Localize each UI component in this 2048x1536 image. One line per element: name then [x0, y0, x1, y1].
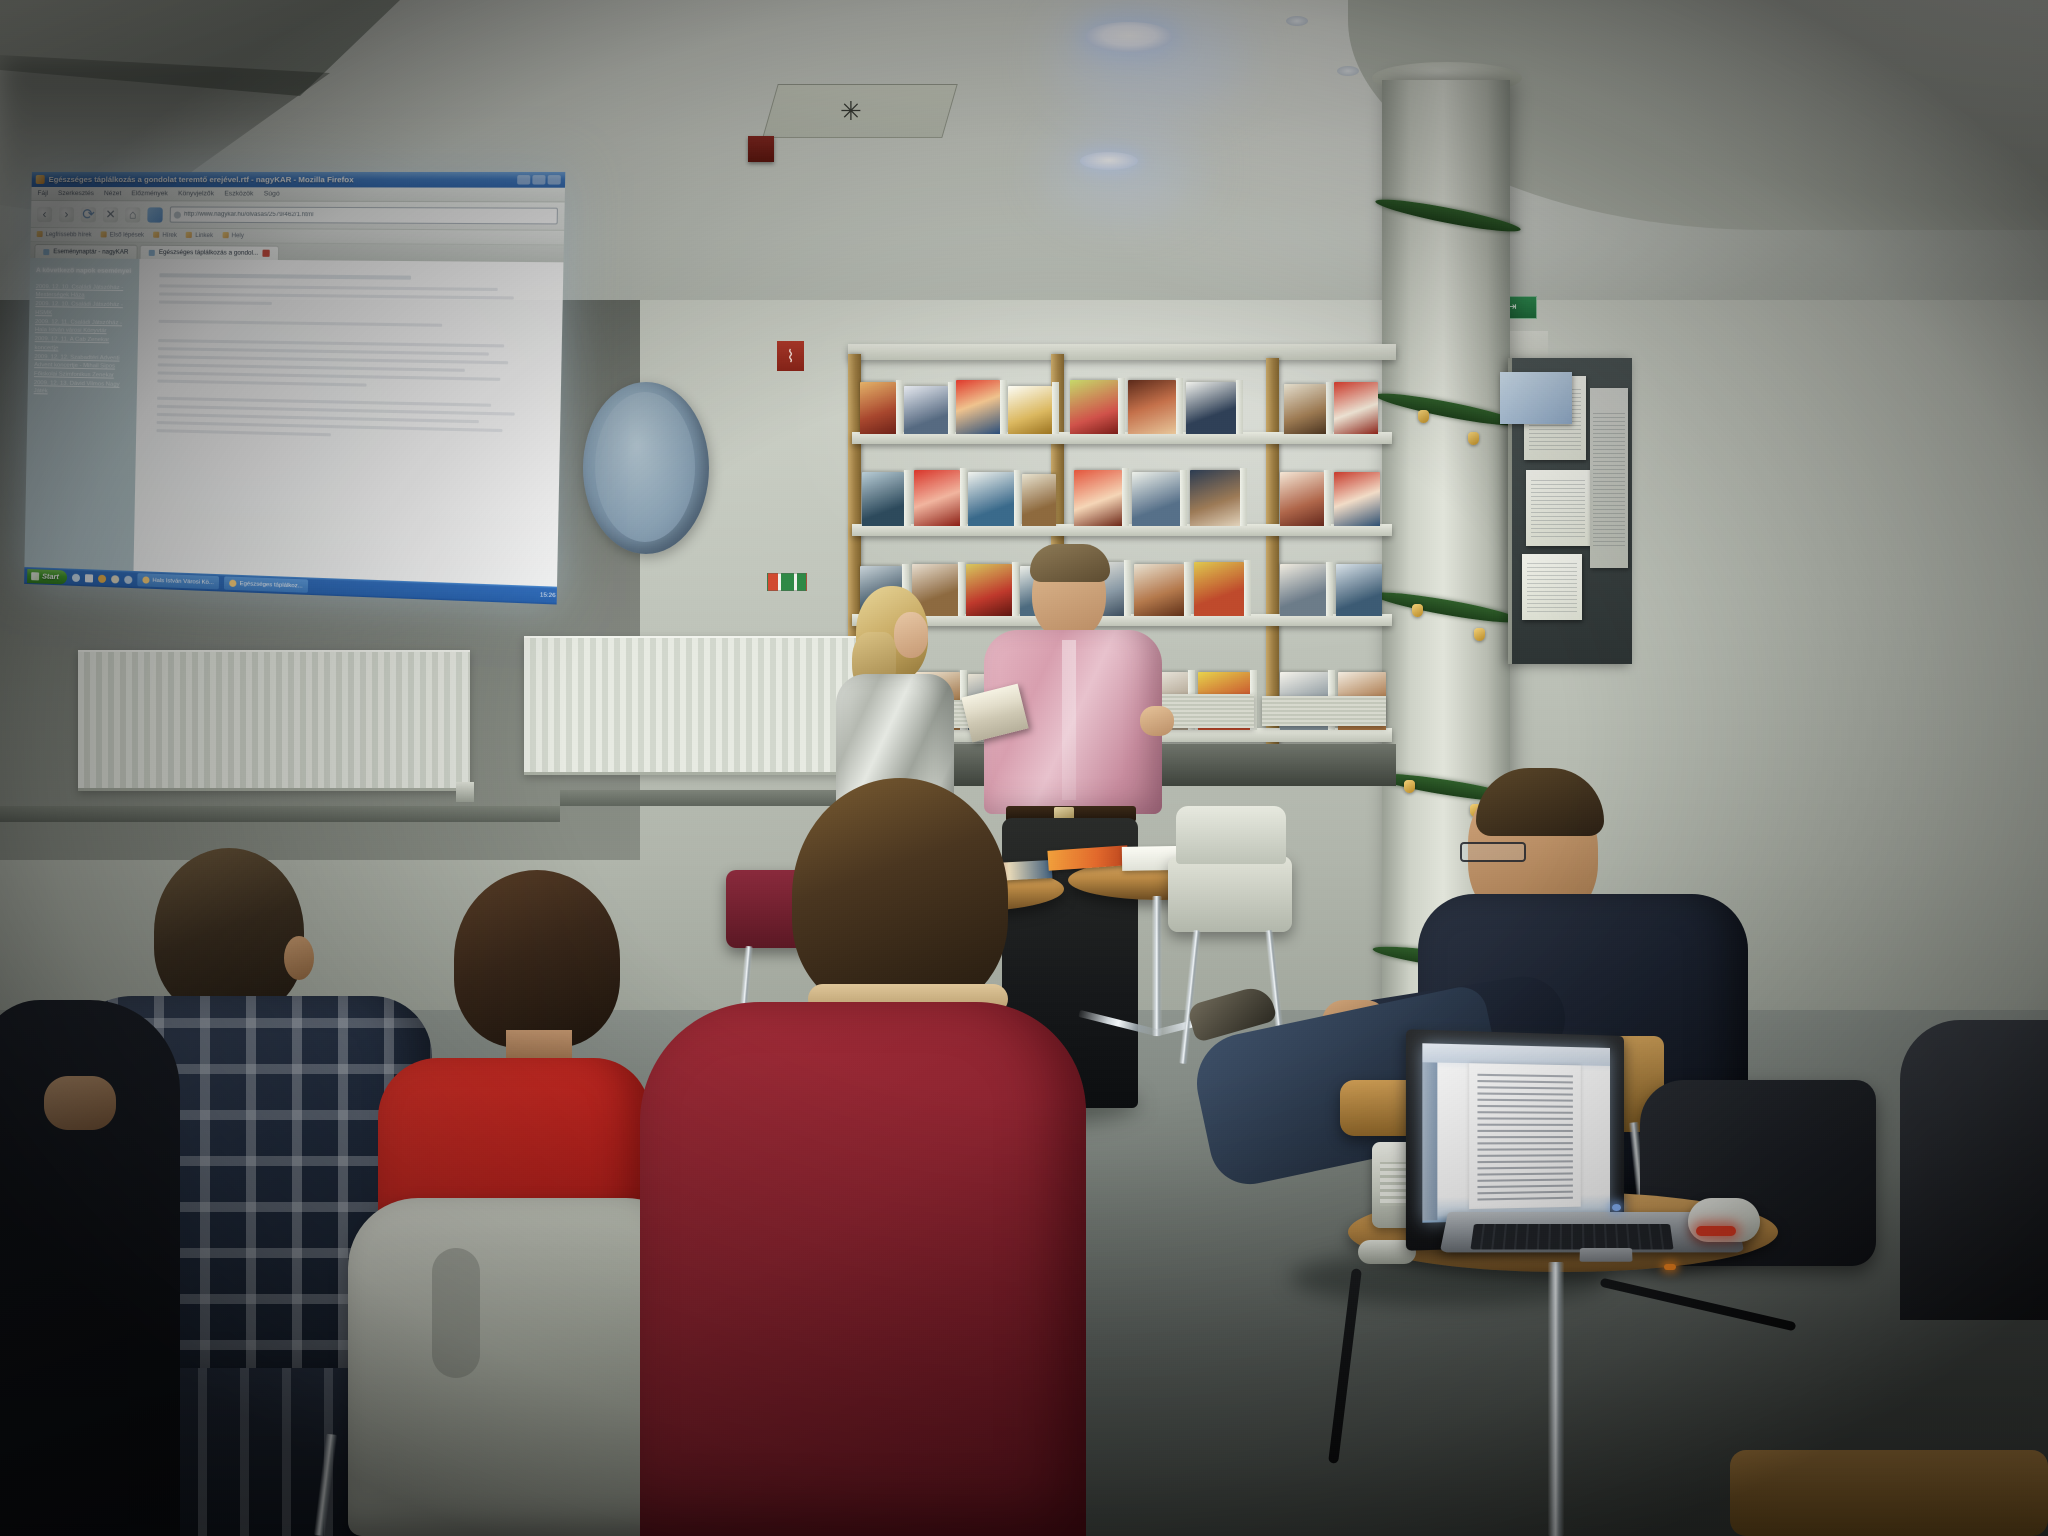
laptop-power-led — [1612, 1204, 1621, 1211]
taskbar-window-label: Egészséges táplálkoz... — [240, 581, 303, 590]
magazine-cover — [1022, 474, 1056, 526]
audience-foreground-hand — [44, 1076, 116, 1130]
magazine-cover — [1008, 386, 1052, 434]
presenter-man-shirt-placket — [1062, 640, 1076, 800]
menu-item-help[interactable]: Súgó — [264, 190, 280, 197]
tab-label: Eseménynaptár - nagyKAR — [53, 248, 128, 256]
chair-far-right[interactable] — [1730, 1450, 2048, 1536]
tab-favicon — [149, 249, 155, 255]
laptop-screen[interactable] — [1422, 1043, 1610, 1222]
document-line — [158, 371, 500, 380]
rack-divider — [1326, 382, 1333, 434]
document-line — [159, 301, 272, 305]
close-button[interactable] — [548, 175, 561, 184]
event-item: 2009. 12. 11. Családi Játszóház - Hala I… — [35, 318, 133, 336]
magazine-cover — [1132, 472, 1180, 526]
rack-bay — [856, 376, 1392, 434]
mouse-led — [1696, 1226, 1736, 1236]
newspaper-stack — [1262, 696, 1386, 726]
taskbar-window-label: Hals István Városi Kö... — [152, 577, 214, 585]
rack-divider — [1000, 380, 1007, 434]
bookmark-links[interactable]: Linkek — [186, 232, 213, 239]
magazine-cover — [1334, 472, 1380, 526]
bookmark-icon[interactable] — [147, 207, 163, 222]
menu-item-edit[interactable]: Szerkesztés — [58, 190, 94, 197]
document-heading-line — [159, 273, 411, 280]
magazine-cover — [914, 470, 960, 526]
tab-eseménynaptár[interactable]: Eseménynaptár - nagyKAR — [34, 244, 137, 259]
magazine-cover — [1284, 384, 1326, 434]
firefox-window[interactable]: Egészséges táplálkozás a gondolat teremt… — [24, 172, 565, 605]
magazine-cover — [1334, 382, 1378, 434]
rack-bay — [856, 466, 1392, 526]
rack-divider — [1052, 382, 1059, 434]
audience-maroon-sweater — [640, 1002, 1086, 1536]
notice-board-upper-poster — [1500, 372, 1572, 424]
laptop-scrollbar[interactable] — [1422, 1062, 1437, 1220]
magazine-cover — [1190, 470, 1240, 526]
document-line — [156, 429, 330, 436]
audience-red-woman-hair — [454, 870, 620, 1048]
document-line — [159, 284, 497, 291]
magazine-cover — [968, 472, 1014, 526]
wall-relief-disc-inner — [595, 392, 695, 542]
rack-divider — [948, 382, 955, 434]
document-line — [157, 379, 366, 386]
word-icon[interactable] — [85, 574, 93, 582]
rack-divider — [904, 470, 911, 526]
notice-sheet — [1526, 470, 1590, 546]
reload-icon[interactable]: ⟳ — [81, 207, 96, 222]
taskbar-window-hals[interactable]: Hals István Városi Kö... — [137, 573, 219, 589]
rack-divider — [1240, 468, 1247, 526]
window-icon — [142, 576, 149, 583]
downlight-2 — [1080, 152, 1138, 170]
audience-plaid-man-hair — [154, 848, 304, 1016]
document-line — [159, 320, 442, 327]
laptop-status-led — [1664, 1264, 1676, 1270]
presenter-man-hand — [1140, 706, 1174, 736]
magazine-cover — [1194, 562, 1244, 616]
site-identity-icon — [174, 211, 181, 218]
laptop-document-text — [1477, 1072, 1572, 1201]
event-item: 2009. 12. 11. A Cab Zenekar koncertje — [34, 336, 132, 354]
notice-sheet — [1522, 554, 1582, 620]
magazine-cover — [1280, 472, 1324, 526]
rack-divider — [1014, 470, 1021, 526]
window-title: Egészséges táplálkozás a gondolat teremt… — [49, 175, 354, 184]
presenter-man-hair — [1030, 544, 1110, 582]
rack-divider — [896, 380, 903, 434]
document-line — [159, 292, 513, 299]
fire-extinguisher-sign-icon: ⌇ — [777, 341, 804, 371]
media-icon[interactable] — [124, 575, 132, 583]
tab-egeszseges-taplalkozas[interactable]: Egészséges táplálkozás a gondol... — [139, 245, 279, 260]
downlight-1 — [1085, 22, 1173, 52]
minimize-button[interactable] — [517, 175, 530, 184]
laptop-keyboard[interactable] — [1470, 1224, 1673, 1250]
rack-divider — [1236, 380, 1243, 434]
gold-bell-ornament — [1468, 432, 1479, 445]
start-button[interactable]: Start — [27, 569, 67, 585]
taskbar-window-egeszseges[interactable]: Egészséges táplálkoz... — [224, 576, 308, 592]
bookmark-place[interactable]: Hely — [222, 232, 244, 239]
downlight-3 — [1286, 16, 1308, 26]
magazine-cover — [1280, 564, 1326, 616]
library-presentation-scene: ✳ ⌇ ⇥ Egészséges táplálkozás a gondolat … — [0, 0, 2048, 1536]
maximize-button[interactable] — [532, 175, 545, 184]
audience-plaid-man-ear — [284, 936, 314, 980]
menu-item-view[interactable]: Nézet — [104, 190, 121, 197]
document-line — [158, 339, 504, 348]
magazine-cover — [956, 380, 1000, 434]
home-icon[interactable]: ⌂ — [125, 207, 140, 222]
downlight-glow-1 — [1056, 0, 1246, 110]
url-text: http://www.nagykar.hu/olvasas/2579/462/1… — [184, 212, 314, 219]
rack-divider — [960, 468, 967, 526]
document-line — [158, 347, 488, 356]
air-diffuser-vanes: ✳ — [840, 98, 884, 124]
firefox-icon[interactable] — [98, 574, 106, 582]
magazine-cover — [860, 382, 896, 434]
radiator-valve — [456, 782, 474, 802]
chair-white-plastic-center-slot — [432, 1248, 480, 1378]
downlight-glow-2 — [1048, 126, 1198, 212]
menu-item-tools[interactable]: Eszközök — [224, 190, 253, 197]
presenter-woman-face — [894, 612, 928, 658]
event-item: 2009. 12. 13. Dávid Vilmos Nagy Játék — [34, 379, 132, 398]
audience-maroon-person — [640, 778, 1090, 1536]
audience-maroon-hair — [792, 778, 1008, 1014]
window-controls[interactable] — [517, 175, 561, 184]
laptop-table-leg — [1548, 1262, 1564, 1536]
menu-bar[interactable]: Fájl Szerkesztés Nézet Előzmények Könyvj… — [31, 187, 565, 202]
gold-bell-ornament — [1412, 604, 1423, 617]
forward-icon[interactable]: › — [59, 207, 74, 222]
fire-alarm-box — [748, 136, 774, 162]
start-label: Start — [42, 572, 59, 582]
magazine-cover — [1186, 382, 1236, 434]
magazine-cover — [1074, 470, 1122, 526]
rack-divider — [1184, 562, 1191, 616]
windows-flag-icon — [31, 572, 39, 580]
downlight-4 — [1337, 66, 1359, 76]
magazine-cover — [1336, 564, 1382, 616]
sidebar-heading: A következő napok eseményei — [36, 267, 134, 277]
events-sidebar: A következő napok eseményei 2009. 12. 10… — [24, 258, 139, 589]
table-right-leg — [1152, 896, 1162, 1036]
menu-item-bookmarks[interactable]: Könyvjelzők — [178, 190, 214, 197]
bookmark-latest-news[interactable]: Legfrissebb hírek — [37, 231, 92, 238]
event-item: 2009. 12. 10. Családi Játszóház - Mester… — [35, 283, 133, 301]
projection-screen: Egészséges táplálkozás a gondolat teremt… — [28, 172, 548, 612]
magazine-cover — [862, 472, 904, 526]
radiator-left — [78, 650, 470, 791]
back-icon[interactable]: ‹ — [37, 206, 52, 221]
rack-top-shelf — [848, 344, 1396, 360]
laptop-app-toolbar — [1422, 1043, 1610, 1066]
magazine-cover — [1070, 380, 1118, 434]
address-bar[interactable]: http://www.nagykar.hu/olvasas/2579/462/1… — [170, 206, 558, 224]
ie-icon[interactable] — [72, 573, 80, 581]
rack-divider — [1244, 560, 1251, 616]
tab-favicon — [43, 249, 49, 255]
page-content: A következő napok eseményei 2009. 12. 10… — [24, 258, 563, 605]
rack-divider — [1326, 562, 1333, 616]
tab-label: Egészséges táplálkozás a gondol... — [159, 249, 259, 257]
magazine-cover — [1128, 380, 1176, 434]
rack-divider — [1176, 378, 1183, 434]
navigation-toolbar[interactable]: ‹ › ⟳ ✕ ⌂ http://www.nagykar.hu/olvasas/… — [31, 201, 565, 231]
rack-divider — [1324, 470, 1331, 526]
safety-sticker — [767, 573, 807, 591]
document-line — [158, 355, 508, 364]
skirting-board — [0, 806, 560, 822]
rack-divider — [1118, 378, 1125, 434]
rack-divider — [1180, 470, 1187, 526]
glasses-icon — [1460, 842, 1526, 862]
firefox-icon — [36, 175, 45, 184]
close-icon[interactable] — [262, 250, 269, 257]
event-item: 2009. 12. 10. Családi Játszóház - HSMK — [35, 300, 133, 318]
messenger-icon[interactable] — [111, 575, 119, 583]
event-item: 2009. 12. 12. Szabadtéri Adventi Advent … — [34, 353, 133, 380]
garland-wrap — [1374, 194, 1522, 237]
audience-glasses-man-hair — [1476, 768, 1604, 836]
window-titlebar: Egészséges táplálkozás a gondolat teremt… — [32, 172, 566, 188]
window-icon — [229, 580, 236, 587]
gold-bell-ornament — [1418, 410, 1429, 423]
document-pane — [133, 259, 563, 605]
stop-icon[interactable]: ✕ — [103, 207, 118, 222]
notice-sheet — [1590, 388, 1628, 568]
menu-item-history[interactable]: Előzmények — [131, 190, 168, 197]
menu-item-file[interactable]: Fájl — [37, 190, 48, 197]
laptop-touchpad[interactable] — [1579, 1248, 1632, 1262]
bookmark-news[interactable]: Hírek — [153, 232, 177, 239]
gold-bell-ornament — [1474, 628, 1485, 641]
audience-far-right-person — [1900, 1020, 2048, 1320]
rack-divider — [1122, 468, 1129, 526]
magazine-cover — [904, 386, 948, 434]
bookmark-getting-started[interactable]: Első lépések — [101, 231, 145, 238]
document-line — [158, 363, 465, 372]
